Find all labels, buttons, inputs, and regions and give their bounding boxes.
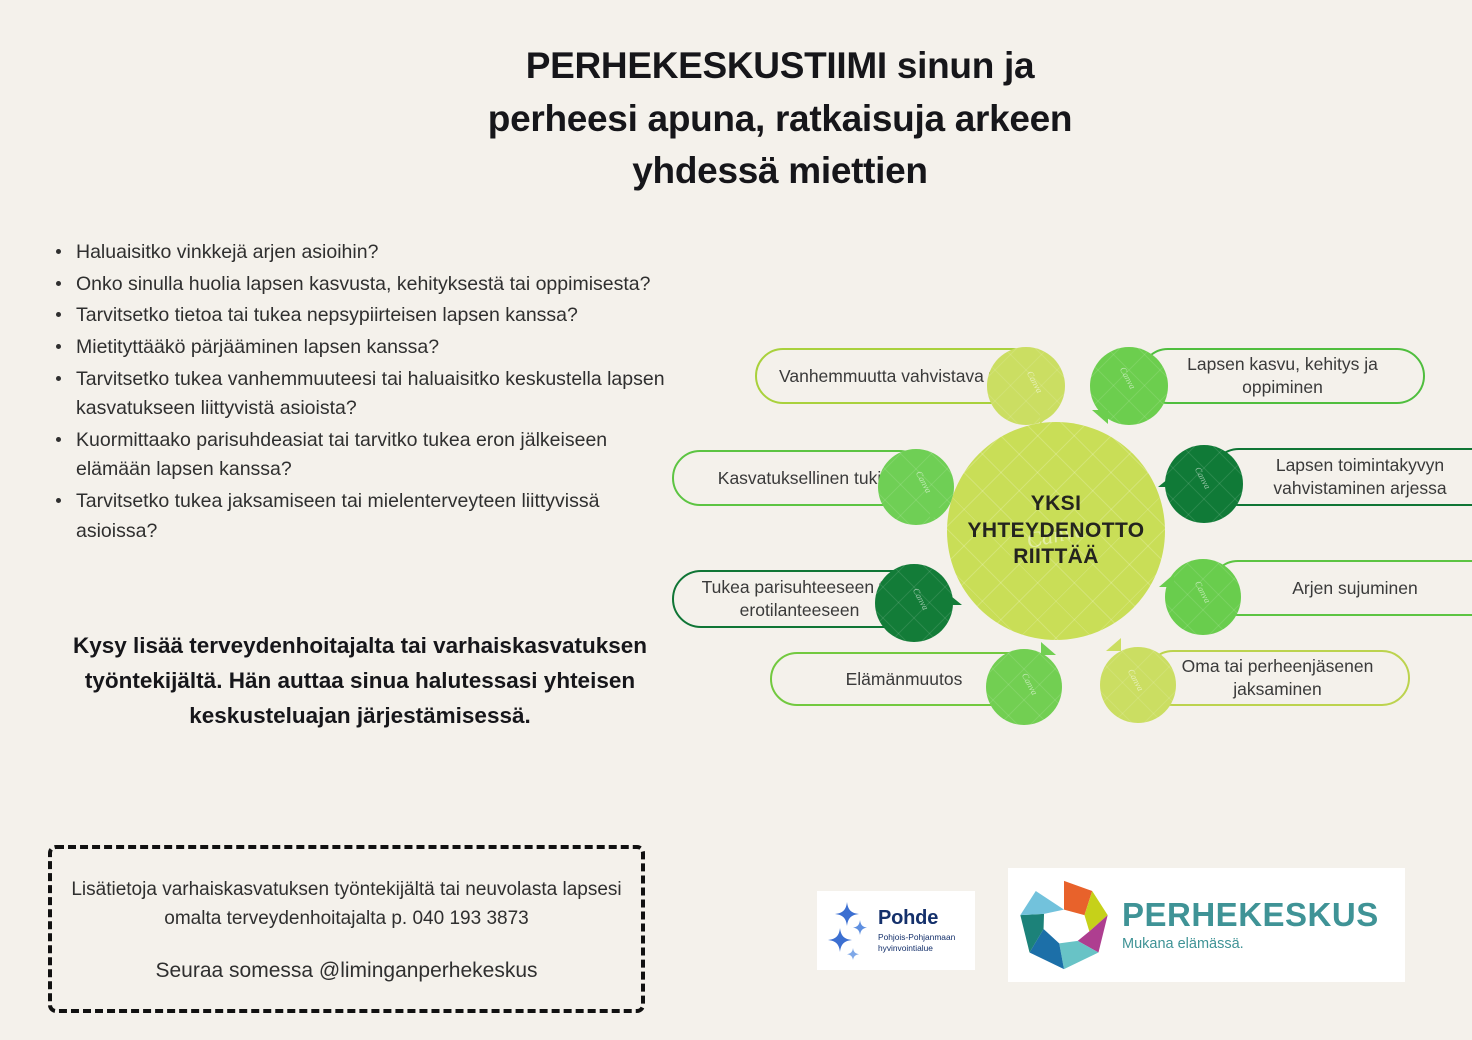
node-label: Oma tai perheenjäsenen jaksaminen xyxy=(1161,655,1394,701)
node-tail xyxy=(1092,410,1108,424)
node-tail xyxy=(946,592,962,605)
title-line-3: yhdessä miettien xyxy=(380,145,1180,198)
node-pill: Oma tai perheenjäsenen jaksaminen xyxy=(1145,650,1410,706)
node-circle: Canva xyxy=(1165,445,1243,523)
node-circle: Canva xyxy=(986,649,1062,725)
canva-watermark: Canva xyxy=(1126,667,1146,692)
list-item: Haluaisitko vinkkejä arjen asioihin? xyxy=(76,238,686,268)
node-label: Kasvatuksellinen tuki xyxy=(718,467,881,490)
node-pill: Lapsen kasvu, kehitys ja oppiminen xyxy=(1140,348,1425,404)
question-list: Haluaisitko vinkkejä arjen asioihin? Onk… xyxy=(46,238,686,548)
services-diagram: Vanhemmuutta vahvistava tuki Canva Lapse… xyxy=(660,330,1460,730)
node-tail xyxy=(1159,574,1174,587)
title-line-1: PERHEKESKUSTIIMI sinun ja xyxy=(380,40,1180,93)
perhekeskus-logo: PERHEKESKUS Mukana elämässä. xyxy=(1008,868,1405,982)
diagram-center-circle: Canva YKSI YHTEYDENOTTO RIITTÄÄ xyxy=(947,422,1165,640)
perhekeskus-wheel-icon xyxy=(1016,877,1112,973)
pohde-logo: Pohde Pohjois-Pohjanmaan hyvinvointialue xyxy=(817,891,975,970)
canva-watermark: Canva xyxy=(1025,369,1045,394)
call-to-action-text: Kysy lisää terveydenhoitajalta tai varha… xyxy=(60,628,660,733)
node-pill: Lapsen toimintakyvyn vahvistaminen arjes… xyxy=(1210,448,1472,506)
node-pill: Arjen sujuminen xyxy=(1210,560,1472,616)
page-title: PERHEKESKUSTIIMI sinun ja perheesi apuna… xyxy=(380,40,1180,198)
pohde-subtitle-line-2: hyvinvointialue xyxy=(878,943,955,954)
canva-watermark: Canva xyxy=(914,469,934,494)
perhekeskus-text-block: PERHEKESKUS Mukana elämässä. xyxy=(1122,898,1379,952)
node-label: Elämänmuutos xyxy=(846,668,963,691)
node-tail xyxy=(930,508,945,521)
pohde-text-block: Pohde Pohjois-Pohjanmaan hyvinvointialue xyxy=(878,908,955,954)
node-label: Vanhemmuutta vahvistava tuki xyxy=(779,365,1016,388)
list-item: Mietityttääkö pärjääminen lapsen kanssa? xyxy=(76,333,686,363)
node-label: Arjen sujuminen xyxy=(1292,577,1417,600)
node-circle: Canva xyxy=(875,564,953,642)
canva-watermark: Canva xyxy=(1193,579,1213,604)
pohde-star-marks xyxy=(826,900,872,962)
list-item: Tarvitsetko tukea vanhemmuuteesi tai hal… xyxy=(76,365,686,424)
contact-info-box: Lisätietoja varhaiskasvatuksen työntekij… xyxy=(48,845,645,1013)
canva-watermark: Canva xyxy=(1118,365,1138,390)
list-item: Onko sinulla huolia lapsen kasvusta, keh… xyxy=(76,270,686,300)
contact-info-line-2: Seuraa somessa @liminganperhekeskus xyxy=(155,959,537,983)
node-tail xyxy=(1041,642,1056,655)
node-label: Lapsen toimintakyvyn vahvistaminen arjes… xyxy=(1226,454,1472,500)
node-tail xyxy=(1158,474,1174,487)
contact-info-line-1: Lisätietoja varhaiskasvatuksen työntekij… xyxy=(52,875,641,934)
node-circle: Canva xyxy=(1165,559,1241,635)
list-item: Tarvitsetko tietoa tai tukea nepsypiirte… xyxy=(76,301,686,331)
list-item: Kuormittaako parisuhdeasiat tai tarvitko… xyxy=(76,426,686,485)
diagram-center-label: YKSI YHTEYDENOTTO RIITTÄÄ xyxy=(947,491,1165,570)
perhekeskus-slogan: Mukana elämässä. xyxy=(1122,937,1379,952)
pohde-subtitle-line-1: Pohjois-Pohjanmaan xyxy=(878,932,955,943)
canva-watermark: Canva xyxy=(1193,465,1213,490)
node-circle: Canva xyxy=(1100,647,1176,723)
perhekeskus-brand: PERHEKESKUS xyxy=(1122,898,1379,931)
poster-root: PERHEKESKUSTIIMI sinun ja perheesi apuna… xyxy=(0,0,1472,1040)
title-line-2: perheesi apuna, ratkaisuja arkeen xyxy=(380,93,1180,146)
pohde-brand: Pohde xyxy=(878,908,955,928)
pohde-star-icon xyxy=(826,900,872,962)
list-item: Tarvitsetko tukea jaksamiseen tai mielen… xyxy=(76,487,686,546)
canva-watermark: Canva xyxy=(1020,671,1040,696)
node-label: Lapsen kasvu, kehitys ja oppiminen xyxy=(1156,353,1409,399)
canva-watermark: Canva xyxy=(911,586,931,611)
node-tail xyxy=(1106,638,1121,651)
